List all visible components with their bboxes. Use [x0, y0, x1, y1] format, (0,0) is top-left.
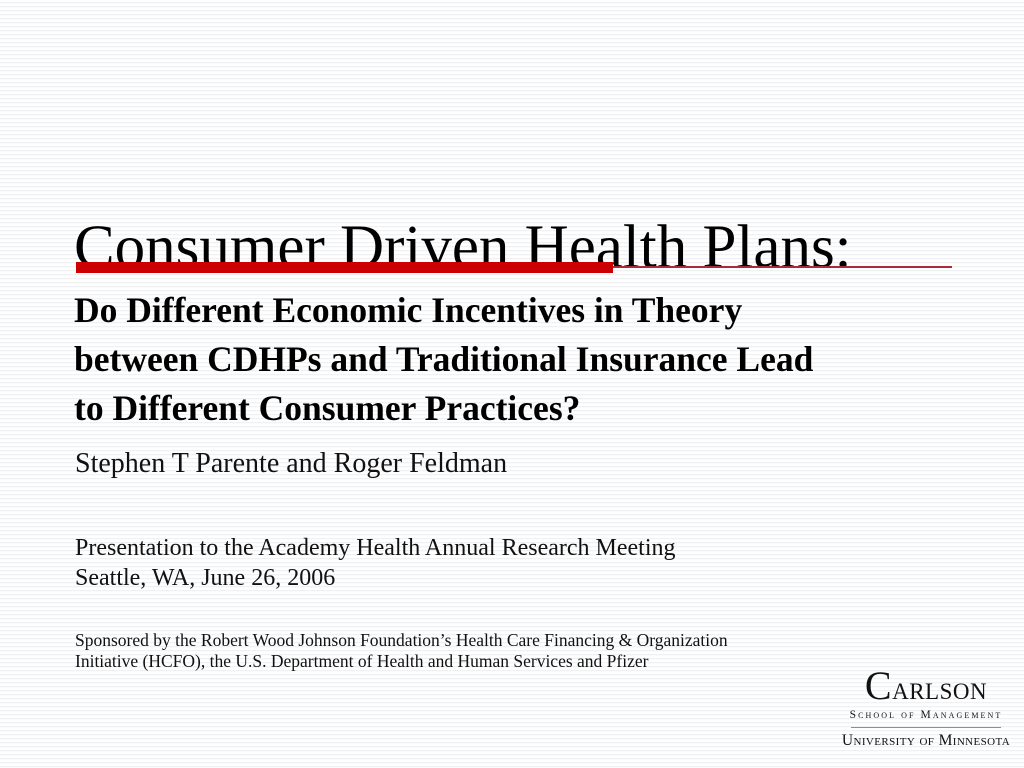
subtitle-line-2: between CDHPs and Traditional Insurance … — [74, 335, 1004, 384]
logo-wordmark-initial: C — [865, 663, 892, 708]
slide-subtitle: Do Different Economic Incentives in Theo… — [74, 286, 1004, 433]
event-details: Presentation to the Academy Health Annua… — [75, 533, 676, 593]
logo-university-line: University of Minnesota — [833, 732, 1019, 750]
author-list: Stephen T Parente and Roger Feldman — [75, 447, 507, 481]
event-line-venue: Presentation to the Academy Health Annua… — [75, 533, 676, 563]
subtitle-line-1: Do Different Economic Incentives in Theo… — [74, 286, 1004, 335]
logo-wordmark-rest: arlson — [892, 671, 987, 707]
subtitle-line-3: to Different Consumer Practices? — [74, 384, 1004, 433]
accent-divider-thick — [76, 262, 613, 273]
presentation-slide: Consumer Driven Health Plans: Do Differe… — [0, 0, 1024, 768]
sponsor-note: Sponsored by the Robert Wood Johnson Fou… — [75, 630, 955, 672]
logo-divider — [851, 727, 1001, 728]
sponsor-line-2: Initiative (HCFO), the U.S. Department o… — [75, 651, 955, 672]
sponsor-line-1: Sponsored by the Robert Wood Johnson Fou… — [75, 630, 955, 651]
carlson-school-logo: Carlson School of Management University … — [833, 668, 1019, 750]
event-line-location-date: Seattle, WA, June 26, 2006 — [75, 563, 676, 593]
accent-divider — [76, 261, 952, 275]
logo-wordmark: Carlson — [833, 668, 1019, 707]
accent-divider-thin — [613, 266, 952, 268]
logo-school-line: School of Management — [833, 708, 1019, 723]
